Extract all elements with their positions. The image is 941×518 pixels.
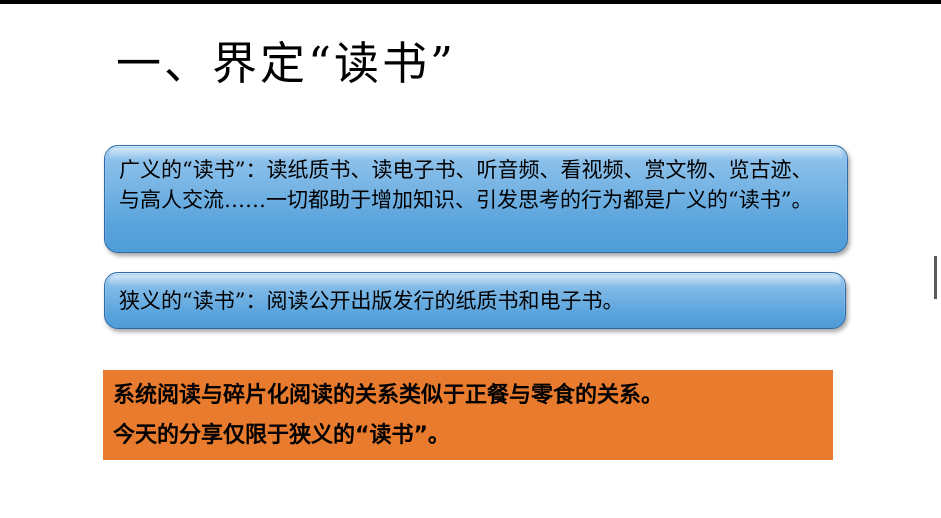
- slide-canvas: 一、界定“读书” 广义的“读书”：读纸质书、读电子书、听音频、看视频、赏文物、览…: [0, 4, 941, 518]
- narrow-definition-box[interactable]: 狭义的“读书”：阅读公开出版发行的纸质书和电子书。: [104, 272, 846, 329]
- broad-definition-text: 广义的“读书”：读纸质书、读电子书、听音频、看视频、赏文物、览古迹、与高人交流……: [119, 155, 833, 215]
- narrow-definition-text: 狭义的“读书”：阅读公开出版发行的纸质书和电子书。: [119, 282, 831, 321]
- page-title: 一、界定“读书”: [116, 36, 456, 92]
- callout-box[interactable]: 系统阅读与碎片化阅读的关系类似于正餐与零食的关系。 今天的分享仅限于狭义的“读书…: [103, 370, 833, 460]
- callout-line-2: 今天的分享仅限于狭义的“读书”。: [113, 416, 833, 456]
- broad-definition-box[interactable]: 广义的“读书”：读纸质书、读电子书、听音频、看视频、赏文物、览古迹、与高人交流……: [104, 145, 848, 253]
- right-edge-scrollbar-marker[interactable]: [934, 256, 937, 299]
- callout-line-1: 系统阅读与碎片化阅读的关系类似于正餐与零食的关系。: [113, 376, 833, 416]
